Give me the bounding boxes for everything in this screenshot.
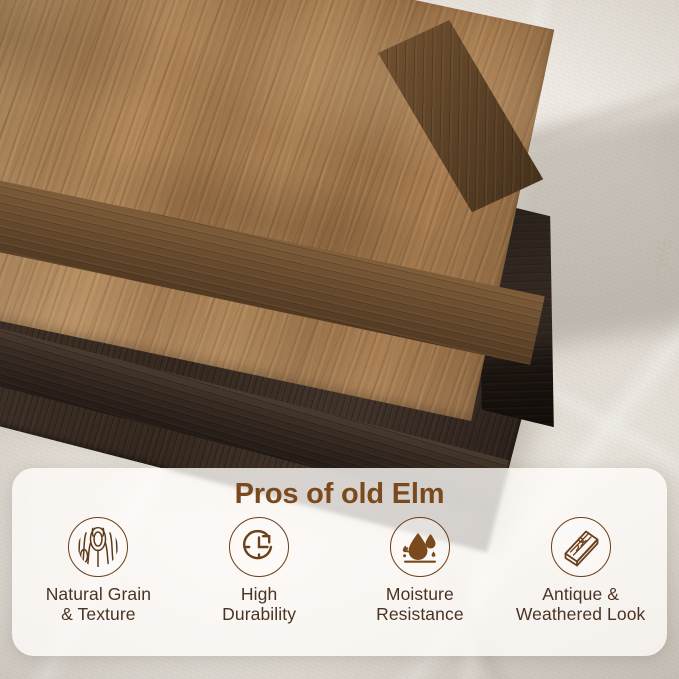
pro-label: Antique & Weathered Look: [516, 584, 646, 625]
water-droplet-icon: [390, 517, 450, 577]
pros-list: Natural Grain & Texture High: [12, 511, 667, 625]
wood-plank-icon: [551, 517, 611, 577]
pro-label: Moisture Resistance: [376, 584, 464, 625]
card-title: Pros of old Elm: [12, 468, 667, 511]
pro-label: High Durability: [222, 584, 296, 625]
pros-info-card: Pros of old Elm: [12, 468, 667, 656]
pro-item-moisture-resistance: Moisture Resistance: [340, 517, 501, 625]
pro-item-antique-weathered: Antique & Weathered Look: [500, 517, 661, 625]
pro-item-natural-grain: Natural Grain & Texture: [18, 517, 179, 625]
wood-grain-icon: [68, 517, 128, 577]
clock-refresh-icon: [229, 517, 289, 577]
pro-item-high-durability: High Durability: [179, 517, 340, 625]
pro-label: Natural Grain & Texture: [46, 584, 151, 625]
product-image-scene: Pros of old Elm: [0, 0, 679, 679]
